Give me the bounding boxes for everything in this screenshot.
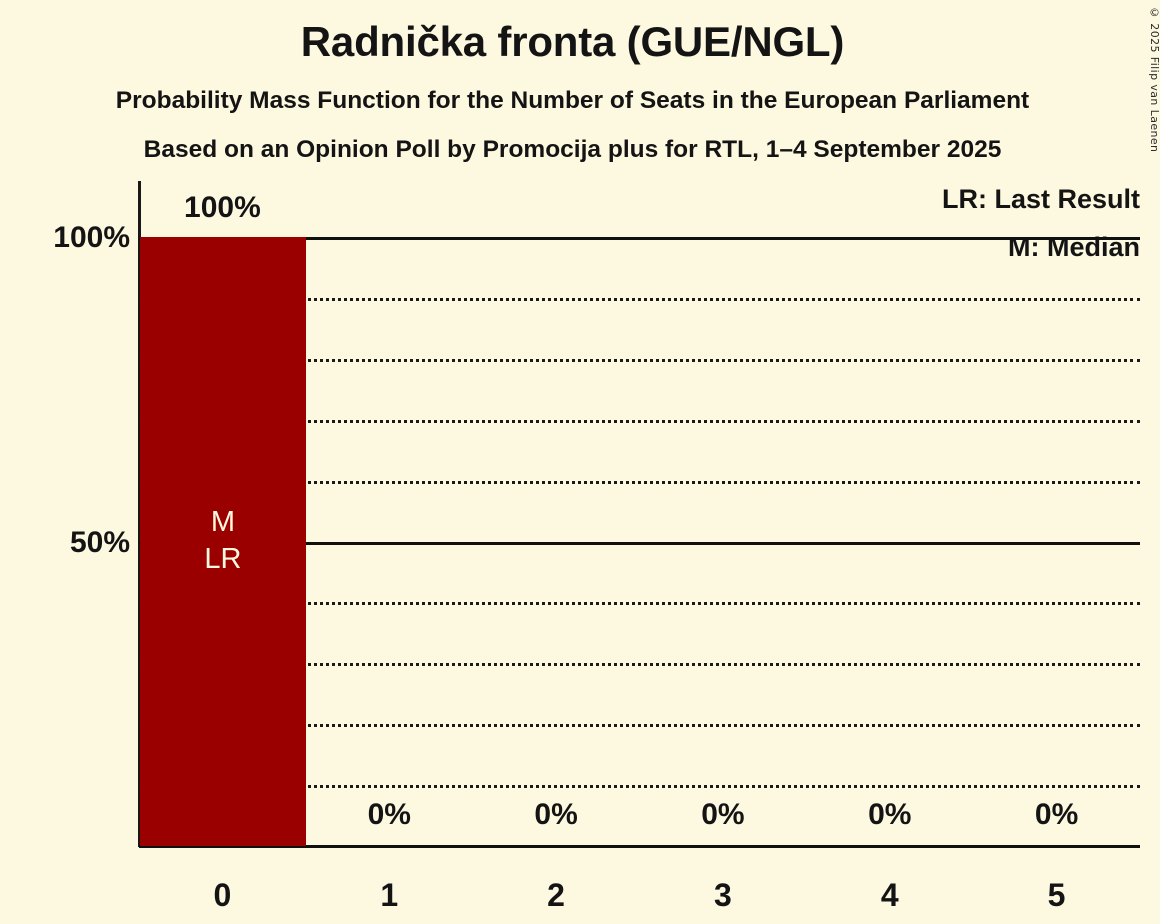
value-label-seat-0: 100%: [139, 193, 306, 223]
value-label-seat-5: 0%: [973, 800, 1140, 830]
value-label-seat-4: 0%: [806, 800, 973, 830]
copyright-notice: © 2025 Filip van Laenen: [1148, 6, 1160, 152]
chart-subtitle: Probability Mass Function for the Number…: [0, 88, 1145, 114]
x-label-seat-3: 3: [640, 879, 807, 911]
bar-marker-labels: MLR: [140, 504, 306, 578]
x-label-seat-1: 1: [306, 879, 473, 911]
y-tick-label: 100%: [0, 221, 130, 255]
bar-seat-0[interactable]: MLR: [140, 237, 306, 846]
value-label-seat-1: 0%: [306, 800, 473, 830]
x-label-seat-5: 5: [973, 879, 1140, 911]
bar-marker-median: M: [140, 504, 306, 541]
y-tick-label: 50%: [0, 526, 130, 560]
x-label-seat-2: 2: [473, 879, 640, 911]
chart-source-line: Based on an Opinion Poll by Promocija pl…: [0, 137, 1145, 163]
bar-marker-last-result: LR: [140, 541, 306, 578]
value-label-seat-2: 0%: [473, 800, 640, 830]
plot-area: MLR: [139, 237, 1140, 846]
pmf-bar-chart: Radnička fronta (GUE/NGL) Probability Ma…: [0, 0, 1160, 924]
page-title: Radnička fronta (GUE/NGL): [0, 20, 1145, 64]
legend-last-result: LR: Last Result: [942, 186, 1140, 213]
x-label-seat-4: 4: [806, 879, 973, 911]
value-label-seat-3: 0%: [640, 800, 807, 830]
x-label-seat-0: 0: [139, 879, 306, 911]
